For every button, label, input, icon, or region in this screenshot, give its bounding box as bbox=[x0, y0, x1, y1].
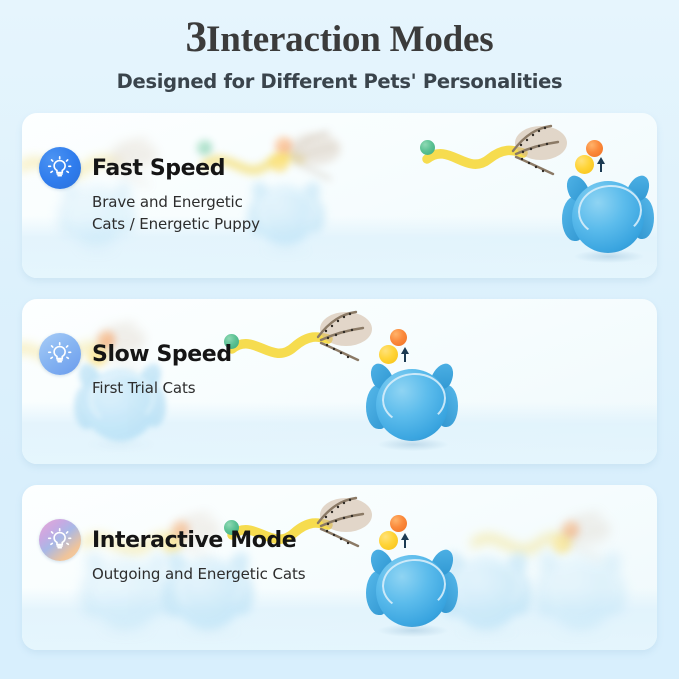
toy-side-right bbox=[436, 571, 458, 613]
mode-description-line1: Brave and Energetic bbox=[92, 191, 260, 214]
toy-side-right bbox=[436, 385, 458, 427]
toy-ball bbox=[376, 369, 448, 441]
toy-band bbox=[259, 187, 316, 235]
feather-wand bbox=[417, 121, 567, 191]
toy-ghost bbox=[534, 545, 626, 637]
scene-floor bbox=[22, 402, 657, 464]
feather-wand-ghost bbox=[467, 507, 617, 577]
toy-shadow bbox=[68, 246, 126, 257]
toy-band bbox=[380, 371, 447, 427]
toy-ear-left bbox=[440, 548, 469, 580]
toy-ball bbox=[255, 185, 315, 245]
toy-shadow bbox=[452, 626, 522, 639]
mode-description-line2: Cats / Energetic Puppy bbox=[92, 213, 260, 236]
bead-orange bbox=[586, 140, 603, 157]
toy-shadow bbox=[378, 438, 448, 451]
cat-ball-toy bbox=[366, 543, 458, 635]
toy-ear-left bbox=[366, 546, 395, 578]
toy-shadow bbox=[92, 626, 162, 639]
bead-yellow bbox=[270, 153, 289, 172]
mode-description-line1: First Trial Cats bbox=[92, 377, 232, 400]
toy-side-left bbox=[366, 385, 390, 429]
toy-ear-left bbox=[562, 172, 591, 204]
card-heading-row: Slow Speed bbox=[39, 333, 232, 375]
card-text-block: Interactive Mode Outgoing and Energetic … bbox=[39, 519, 305, 586]
card-heading-row: Interactive Mode bbox=[39, 519, 305, 561]
bead-orange bbox=[562, 521, 579, 538]
toy-shadow bbox=[174, 626, 244, 639]
page-subtitle: Designed for Different Pets' Personaliti… bbox=[0, 70, 679, 93]
toy-side-right bbox=[307, 199, 325, 233]
toy-shadow bbox=[546, 626, 616, 639]
bead-green bbox=[420, 140, 435, 155]
toy-ball bbox=[450, 557, 522, 629]
toy-band bbox=[380, 557, 447, 613]
toy-band bbox=[548, 559, 615, 615]
bead-yellow bbox=[379, 345, 398, 364]
toy-ghost bbox=[440, 545, 532, 637]
card-text-block: Fast Speed Brave and Energetic Cats / En… bbox=[39, 147, 260, 237]
mode-title: Fast Speed bbox=[92, 156, 225, 181]
toy-shadow bbox=[86, 438, 156, 451]
mode-card-slow-speed[interactable]: Slow Speed First Trial Cats bbox=[22, 299, 657, 464]
wand-clip bbox=[399, 347, 411, 363]
card-heading-row: Fast Speed bbox=[39, 147, 260, 189]
lightbulb-icon bbox=[39, 147, 81, 189]
toy-ball bbox=[544, 557, 616, 629]
toy-side-right bbox=[632, 197, 654, 239]
toy-side-left bbox=[534, 573, 558, 617]
toy-side-right bbox=[604, 573, 626, 615]
mode-title: Interactive Mode bbox=[92, 528, 296, 553]
toy-ball bbox=[376, 555, 448, 627]
title-numeral: 3 bbox=[186, 14, 207, 61]
toy-shadow bbox=[378, 624, 448, 637]
feather-wand bbox=[222, 307, 372, 377]
bead-yellow bbox=[552, 535, 571, 554]
title-text: Interaction Modes bbox=[206, 19, 493, 60]
toy-ear-right bbox=[428, 360, 457, 392]
bead-orange bbox=[390, 329, 407, 346]
mode-title: Slow Speed bbox=[92, 342, 232, 367]
lightbulb-icon bbox=[39, 333, 81, 375]
mode-description-line1: Outgoing and Energetic Cats bbox=[92, 563, 305, 586]
toy-ear-right bbox=[624, 172, 653, 204]
card-text-block: Slow Speed First Trial Cats bbox=[39, 333, 232, 400]
page-title: 3Interaction Modes bbox=[0, 14, 679, 61]
mode-card-list: Fast Speed Brave and Energetic Cats / En… bbox=[22, 113, 657, 671]
mode-card-fast-speed[interactable]: Fast Speed Brave and Energetic Cats / En… bbox=[22, 113, 657, 278]
scene-floor bbox=[22, 588, 657, 650]
toy-side-right bbox=[510, 573, 532, 615]
bead-orange bbox=[275, 137, 292, 154]
toy-band bbox=[454, 559, 521, 615]
toy-ear-left bbox=[534, 548, 563, 580]
cat-ball-toy bbox=[562, 169, 654, 261]
toy-side-left bbox=[440, 573, 464, 617]
toy-side-left bbox=[366, 571, 390, 615]
page-header: 3Interaction Modes Designed for Differen… bbox=[0, 0, 679, 93]
bead-orange bbox=[390, 515, 407, 532]
mode-card-interactive-mode[interactable]: Interactive Mode Outgoing and Energetic … bbox=[22, 485, 657, 650]
wand-clip bbox=[595, 157, 607, 173]
wand-clip bbox=[399, 533, 411, 549]
toy-shadow bbox=[574, 250, 644, 263]
toy-shadow bbox=[257, 246, 315, 257]
cat-ball-toy bbox=[366, 357, 458, 449]
lightbulb-icon bbox=[39, 519, 81, 561]
toy-ear-right bbox=[596, 548, 625, 580]
toy-ball bbox=[572, 181, 644, 253]
toy-ear-left bbox=[366, 360, 395, 392]
toy-ear-right bbox=[299, 178, 324, 205]
bead-yellow bbox=[575, 155, 594, 174]
bead-yellow bbox=[379, 531, 398, 550]
toy-ear-right bbox=[502, 548, 531, 580]
toy-ear-right bbox=[428, 546, 457, 578]
toy-band bbox=[576, 183, 643, 239]
toy-side-left bbox=[562, 197, 586, 241]
